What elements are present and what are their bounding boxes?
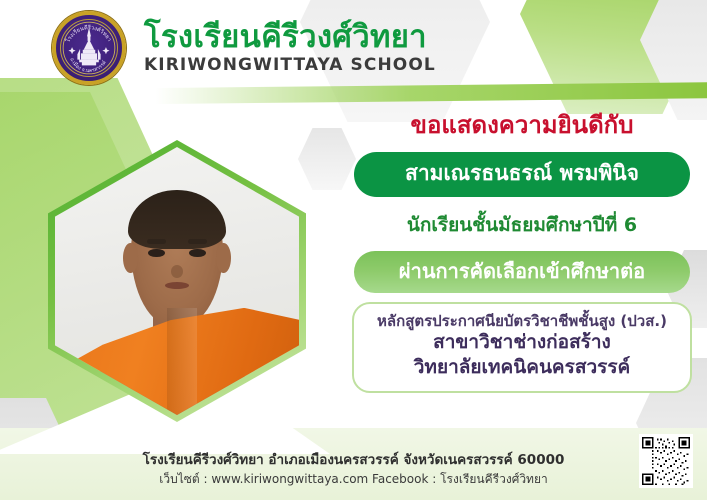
congratulation-content: ขอแสดงความยินดีกับ สามเณรธนธรณ์ พรมพินิจ… bbox=[352, 112, 692, 393]
qr-code-icon[interactable] bbox=[639, 434, 693, 488]
school-name-th: โรงเรียนคีรีวงศ์วิทยา bbox=[144, 22, 436, 53]
institution-name: วิทยาลัยเทคนิคนครสวรรค์ bbox=[364, 355, 680, 380]
hexagon-decor-small-grey bbox=[298, 128, 356, 190]
grade-level-text: นักเรียนชั้นมัธยมศึกษาปีที่ 6 bbox=[352, 210, 692, 240]
footer-address: โรงเรียนคีรีวงศ์วิทยา อำเภอเมืองนครสวรรค… bbox=[0, 451, 707, 471]
school-seal-icon: โรงเรียนคีรีวงศ์วิทยา อ.เมือง จ.นครสวรรค… bbox=[52, 11, 126, 85]
congratulation-banner: โรงเรียนคีรีวงศ์วิทยา อ.เมือง จ.นครสวรรค… bbox=[0, 0, 707, 500]
banner-footer: โรงเรียนคีรีวงศ์วิทยา อำเภอเมืองนครสวรรค… bbox=[0, 451, 707, 488]
student-photo bbox=[48, 140, 306, 422]
footer-contact: เว็บไซต์ : www.kiriwongwittaya.com Faceb… bbox=[0, 471, 707, 488]
congrats-heading: ขอแสดงความยินดีกับ bbox=[352, 112, 692, 140]
school-name-block: โรงเรียนคีรีวงศ์วิทยา KIRIWONGWITTAYA SC… bbox=[144, 22, 436, 74]
program-details-box: หลักสูตรประกาศนียบัตรวิชาชีพชั้นสูง (ปวส… bbox=[352, 302, 692, 393]
admission-status-badge: ผ่านการคัดเลือกเข้าศึกษาต่อ bbox=[354, 251, 690, 293]
school-name-en: KIRIWONGWITTAYA SCHOOL bbox=[144, 57, 436, 74]
portrait-illustration bbox=[55, 147, 299, 415]
banner-header: โรงเรียนคีรีวงศ์วิทยา อ.เมือง จ.นครสวรรค… bbox=[0, 0, 707, 96]
major-name: สาขาวิชาช่างก่อสร้าง bbox=[364, 330, 680, 355]
photo-image bbox=[55, 147, 299, 415]
program-name: หลักสูตรประกาศนียบัตรวิชาชีพชั้นสูง (ปวส… bbox=[364, 312, 680, 331]
student-name-badge: สามเณรธนธรณ์ พรมพินิจ bbox=[354, 152, 690, 197]
photo-hexagon-frame bbox=[48, 140, 306, 422]
